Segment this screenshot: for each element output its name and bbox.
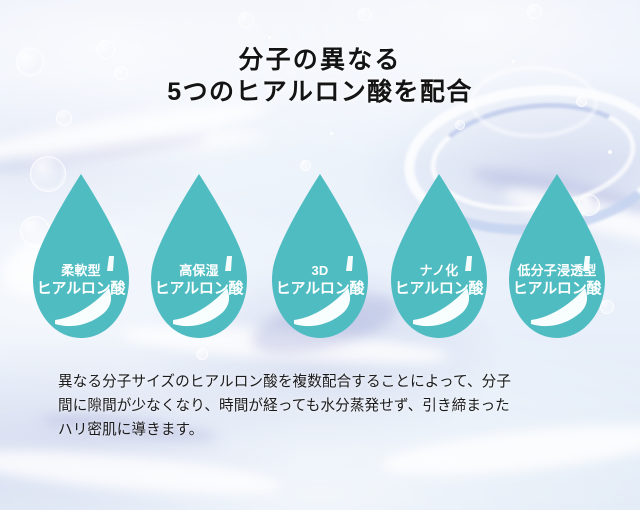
droplet-shape-icon (503, 172, 611, 340)
description-line-1: 異なる分子サイズのヒアルロン酸を複数配合することによって、分子 (58, 370, 588, 394)
description-line-3: ハリ密肌に導きます。 (58, 418, 588, 442)
droplet-5[interactable]: 低分子浸透型ヒアルロン酸 (503, 172, 611, 340)
droplet-3[interactable]: 3Dヒアルロン酸 (266, 172, 374, 340)
promo-graphic: 分子の異なる 5つのヒアルロン酸を配合 柔軟型ヒアルロン酸高保湿ヒアルロン酸3D… (0, 0, 640, 510)
droplet-4[interactable]: ナノ化ヒアルロン酸 (385, 172, 493, 340)
droplet-shape-icon (266, 172, 374, 340)
description-line-2: 間に隙間が少なくなり、時間が経っても水分蒸発せず、引き締まった (58, 394, 588, 418)
droplet-1[interactable]: 柔軟型ヒアルロン酸 (27, 172, 135, 340)
description-text: 異なる分子サイズのヒアルロン酸を複数配合することによって、分子 間に隙間が少なく… (58, 370, 588, 442)
droplet-shape-icon (385, 172, 493, 340)
droplet-shape-icon (27, 172, 135, 340)
droplet-shape-icon (145, 172, 253, 340)
droplet-2[interactable]: 高保湿ヒアルロン酸 (145, 172, 253, 340)
